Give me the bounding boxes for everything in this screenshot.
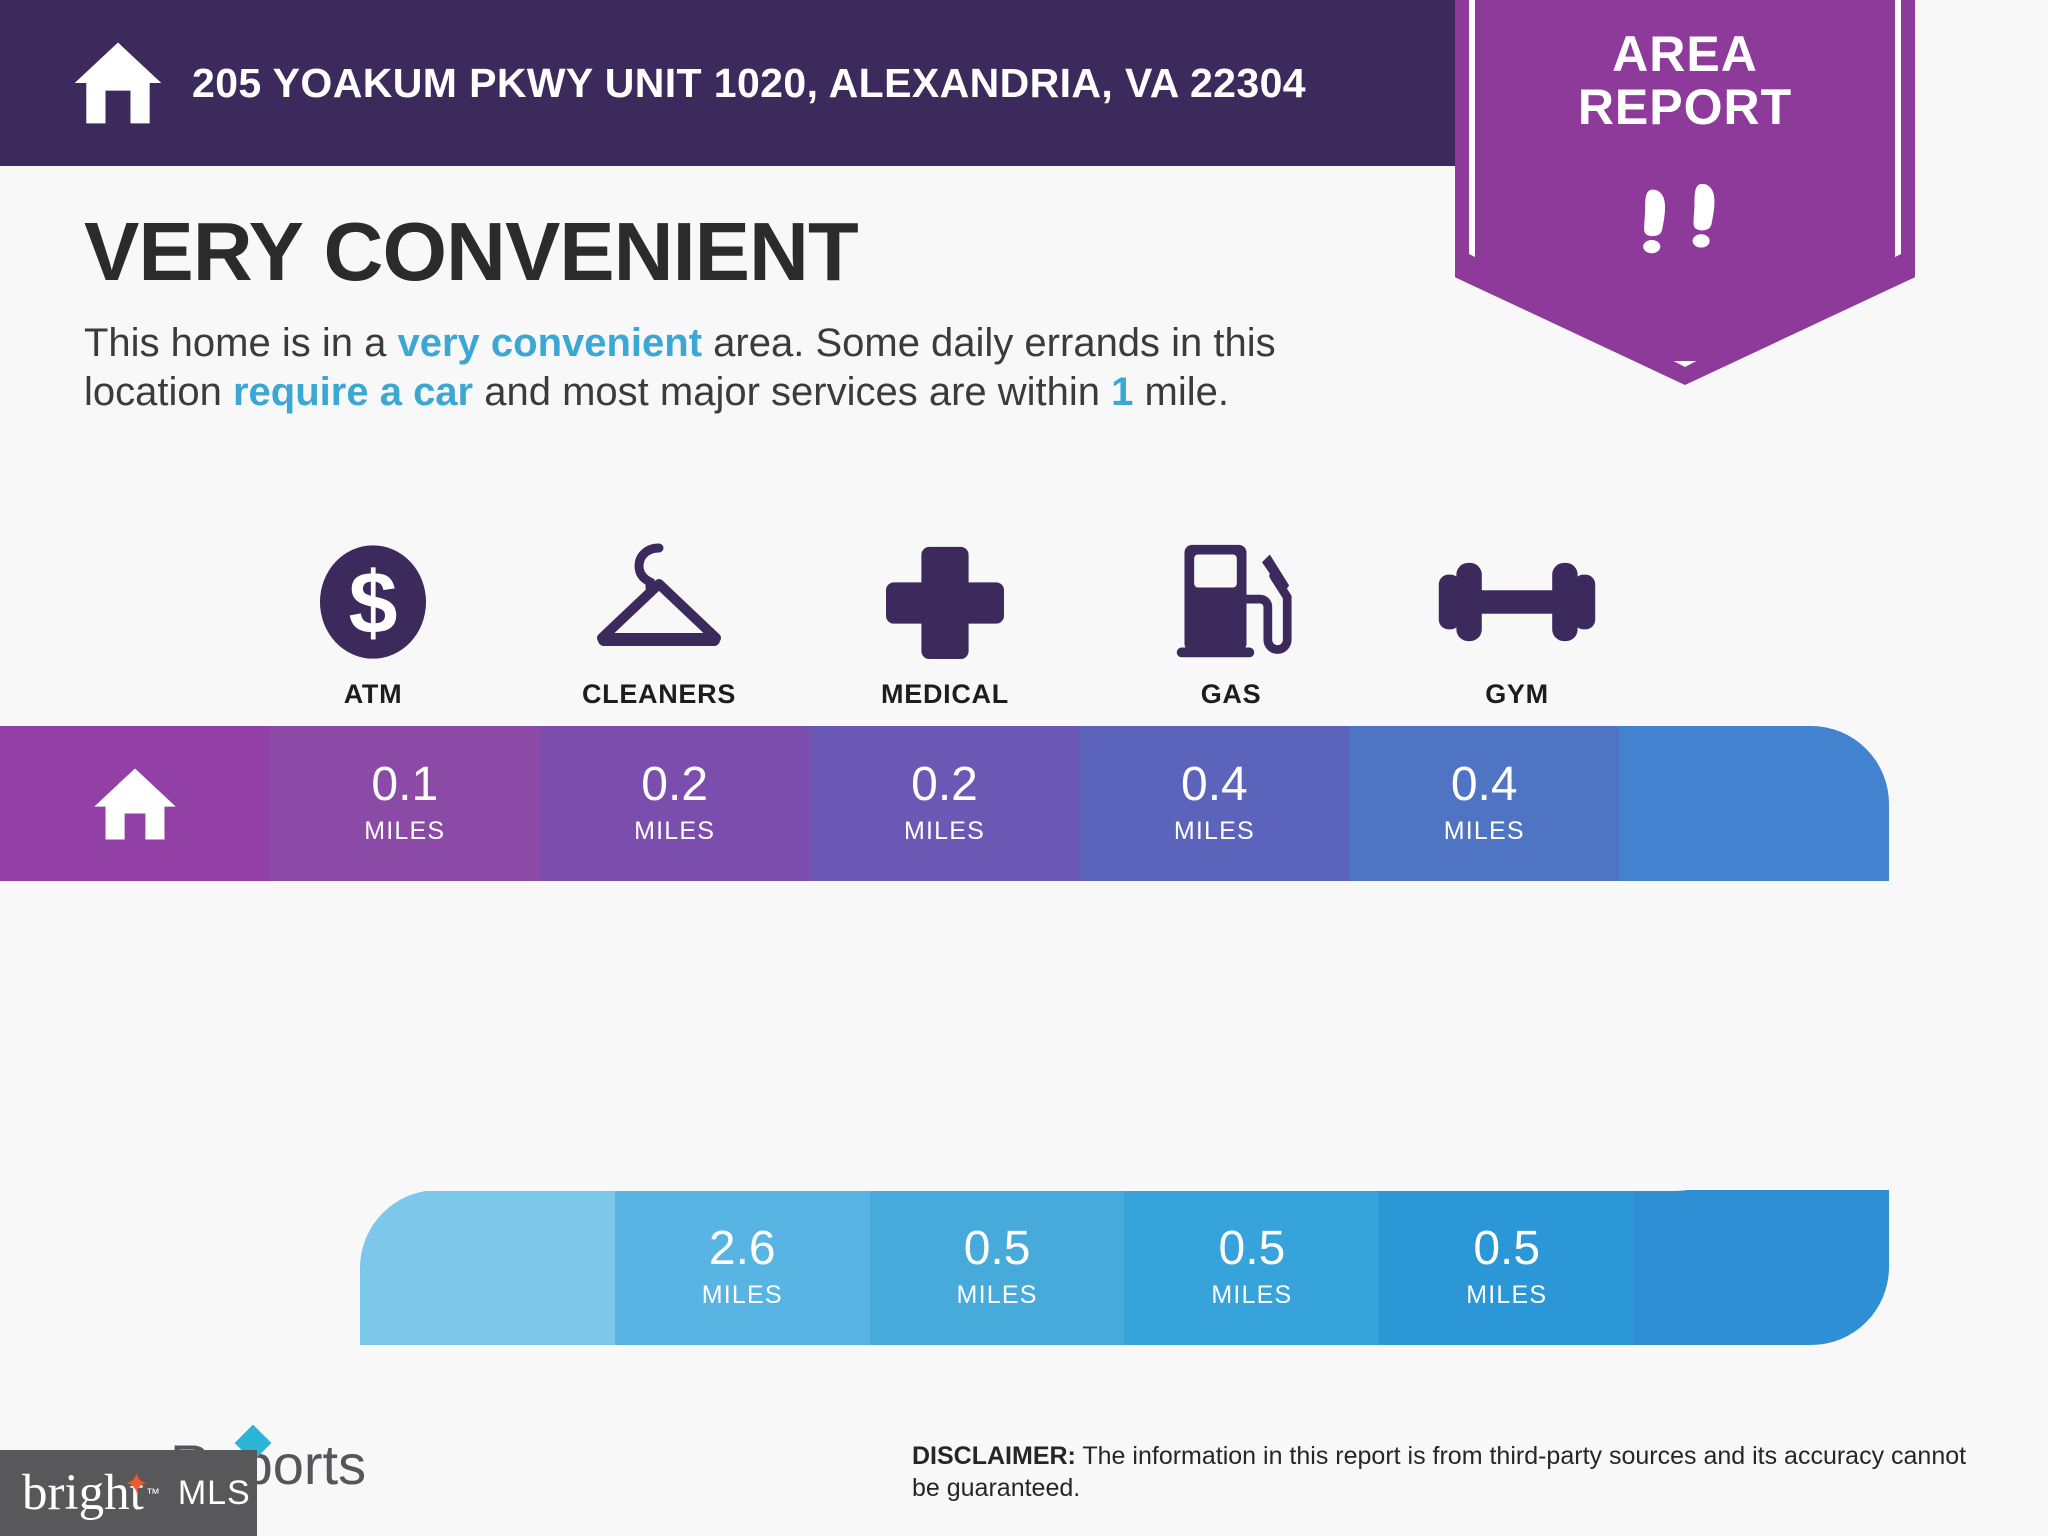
amenity-gym: GYM <box>1374 520 1660 710</box>
area-report-page: 205 YOAKUM PKWY UNIT 1020, ALEXANDRIA, V… <box>0 0 2048 1536</box>
hanger-icon <box>584 537 734 667</box>
distance-unit: MILES <box>1174 817 1255 846</box>
badge-text: AREA REPORT <box>1455 28 1915 134</box>
hero-highlight-3: 1 <box>1111 370 1133 414</box>
distance-cell-cleaners: 0.2 MILES <box>540 726 810 881</box>
hero-highlight-1: very convenient <box>397 321 702 365</box>
distance-value: 0.5 <box>1473 1225 1540 1273</box>
disclaimer-label: DISCLAIMER: <box>912 1442 1076 1470</box>
distance-cell-gym: 0.4 MILES <box>1349 726 1619 881</box>
distance-value: 0.5 <box>964 1225 1031 1273</box>
distance-value: 0.2 <box>641 761 708 809</box>
distance-unit: MILES <box>1466 1281 1547 1310</box>
distance-value: 0.1 <box>371 761 438 809</box>
amenity-label: GAS <box>1201 679 1262 710</box>
amenity-atm: $ ATM <box>230 520 516 710</box>
distance-unit: MILES <box>957 1281 1038 1310</box>
area-report-badge: AREA REPORT <box>1455 0 1915 385</box>
distance-bar-tail <box>1634 1190 1889 1345</box>
amenity-label: MEDICAL <box>881 679 1009 710</box>
distance-unit: MILES <box>1211 1281 1292 1310</box>
footsteps-icon <box>1637 182 1733 258</box>
amenity-gas: GAS <box>1088 520 1374 710</box>
distance-cell-gas: 0.4 MILES <box>1079 726 1349 881</box>
distance-cell-coffee: 0.5 MILES <box>870 1190 1125 1345</box>
hero-text-4: mile. <box>1133 370 1229 414</box>
distance-bar-bottom: 2.6 MILES 0.5 MILES 0.5 MILES 0.5 MILES <box>360 1190 1889 1345</box>
distance-cell-groceries: 0.5 MILES <box>1379 1190 1634 1345</box>
distance-unit: MILES <box>1444 817 1525 846</box>
distance-value: 0.4 <box>1451 761 1518 809</box>
distance-bar-lead <box>360 1190 615 1345</box>
amenity-label: ATM <box>344 679 403 710</box>
hero-section: VERY CONVENIENT This home is in a very c… <box>84 210 1414 417</box>
distance-bar-top: 0.1 MILES 0.2 MILES 0.2 MILES 0.4 MILES … <box>0 726 1889 881</box>
home-marker-cell <box>0 726 270 881</box>
hero-text-1: This home is in a <box>84 321 397 365</box>
distance-value: 0.4 <box>1181 761 1248 809</box>
mls-text: MLS <box>178 1474 251 1513</box>
amenity-label: CLEANERS <box>582 679 736 710</box>
distance-bar-tail <box>1619 726 1889 881</box>
distance-unit: MILES <box>702 1281 783 1310</box>
amenity-icon-row-top: $ ATM CLEANERS MEDICAL <box>230 520 1660 710</box>
gas-pump-icon <box>1161 537 1301 667</box>
distance-unit: MILES <box>904 817 985 846</box>
distance-cell-medical: 0.2 MILES <box>810 726 1080 881</box>
distance-value: 0.2 <box>911 761 978 809</box>
brightmls-logo: bright✦ ™ MLS <box>0 1450 257 1536</box>
badge-line-1: AREA <box>1455 28 1915 81</box>
property-address: 205 YOAKUM PKWY UNIT 1020, ALEXANDRIA, V… <box>192 60 1306 107</box>
hero-description: This home is in a very convenient area. … <box>84 319 1414 417</box>
distance-value: 0.5 <box>1219 1225 1286 1273</box>
bright-wordmark: bright✦ <box>22 1468 144 1519</box>
distance-cell-atm: 0.1 MILES <box>270 726 540 881</box>
page-title: VERY CONVENIENT <box>84 210 1414 293</box>
dollar-circle-icon: $ <box>313 537 433 667</box>
distance-unit: MILES <box>634 817 715 846</box>
bright-star-icon: ✦ <box>124 1470 150 1496</box>
amenity-cleaners: CLEANERS <box>516 520 802 710</box>
distance-cell-pharmacy: 0.5 MILES <box>1124 1190 1379 1345</box>
home-icon <box>91 765 179 843</box>
distance-unit: MILES <box>364 817 445 846</box>
hero-highlight-2: require a car <box>233 370 473 414</box>
medical-cross-icon <box>886 537 1004 667</box>
header-bar: 205 YOAKUM PKWY UNIT 1020, ALEXANDRIA, V… <box>0 0 1462 166</box>
disclaimer: DISCLAIMER: The information in this repo… <box>912 1440 1972 1504</box>
bar-cutout-top <box>360 881 1753 1191</box>
amenity-medical: MEDICAL <box>802 520 1088 710</box>
hero-text-3: and most major services are within <box>473 370 1111 414</box>
distance-value: 2.6 <box>709 1225 776 1273</box>
home-icon <box>70 35 166 131</box>
svg-text:$: $ <box>349 554 398 652</box>
amenity-label: GYM <box>1485 679 1549 710</box>
dumbbell-icon <box>1429 537 1605 667</box>
distance-cell-movie-theater: 2.6 MILES <box>615 1190 870 1345</box>
badge-line-2: REPORT <box>1455 81 1915 134</box>
